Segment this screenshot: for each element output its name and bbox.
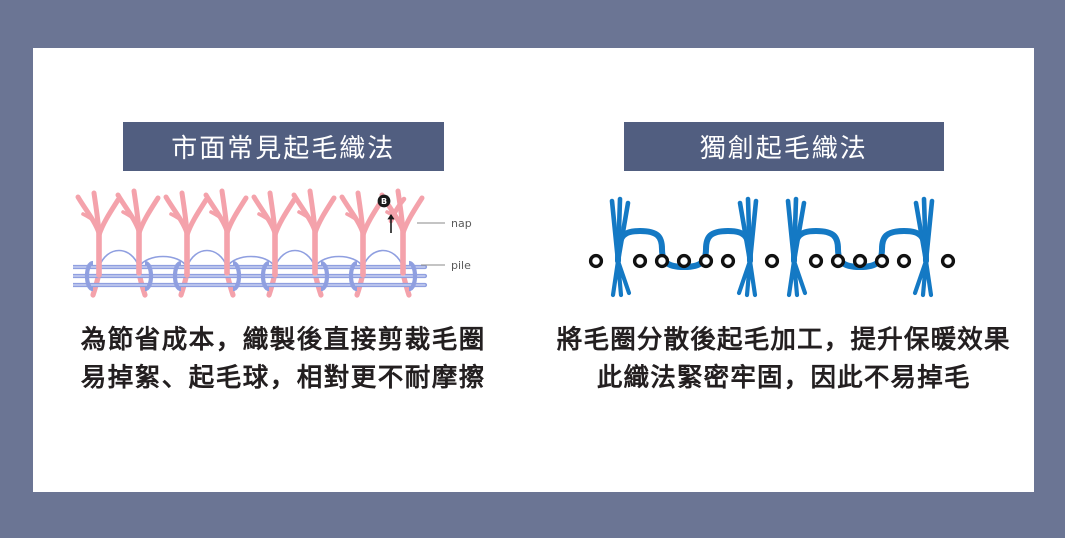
looped-pile-weave-diagram xyxy=(574,187,994,299)
caption-line-2: 此織法緊密牢固，因此不易掉毛 xyxy=(557,359,1011,397)
nap-label: nap xyxy=(451,217,472,230)
ground-weave-arcs xyxy=(99,251,403,268)
cut-pile-weave-diagram: B nap pile xyxy=(73,187,493,299)
caption-line-1: 將毛圈分散後起毛加工，提升保暖效果 xyxy=(557,321,1011,359)
nap-tufts xyxy=(78,191,422,275)
panel-header-label: 獨創起毛織法 xyxy=(700,128,868,165)
panel-caption-original-weave: 將毛圈分散後起毛加工，提升保暖效果 此織法緊密牢固，因此不易掉毛 xyxy=(557,321,1011,397)
panel-header-label: 市面常見起毛織法 xyxy=(171,128,395,165)
loop-units xyxy=(612,199,932,295)
panel-caption-common-weave: 為節省成本，織製後直接剪裁毛圈 易掉絮、起毛球，相對更不耐摩擦 xyxy=(81,321,486,397)
callout-badge: B xyxy=(378,195,391,208)
weft-bands-highlight xyxy=(73,267,425,285)
panel-original-weave: 獨創起毛織法 xyxy=(534,48,1035,492)
label-leader-lines xyxy=(417,223,445,265)
panel-header-original-weave: 獨創起毛織法 xyxy=(624,122,944,171)
content-card: 市面常見起毛織法 xyxy=(33,48,1034,492)
caption-line-2: 易掉絮、起毛球，相對更不耐摩擦 xyxy=(81,359,486,397)
panel-header-common-weave: 市面常見起毛織法 xyxy=(123,122,444,171)
caption-line-1: 為節省成本，織製後直接剪裁毛圈 xyxy=(81,321,486,359)
comparison-columns: 市面常見起毛織法 xyxy=(33,48,1034,492)
pile-label: pile xyxy=(451,259,471,272)
callout-badge-label: B xyxy=(381,197,387,206)
yarn-cross-section-rings xyxy=(590,256,953,267)
panel-common-weave: 市面常見起毛織法 xyxy=(33,48,534,492)
page-root: 市面常見起毛織法 xyxy=(0,0,1065,538)
